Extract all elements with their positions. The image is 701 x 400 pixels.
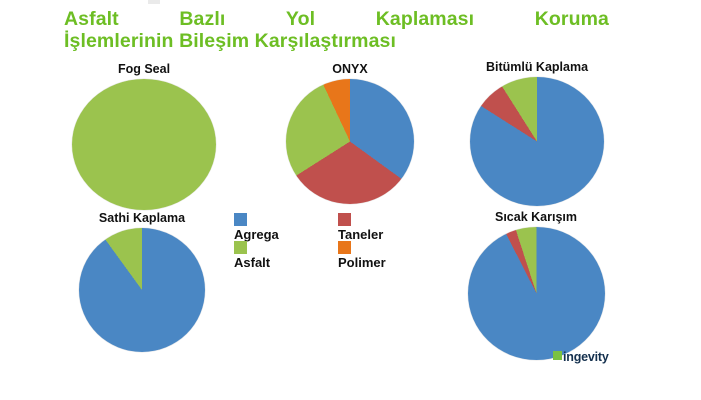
legend-label-polimer: Polimer <box>338 255 420 270</box>
legend-item-polimer[interactable]: Polimer <box>338 241 420 269</box>
page-title-line-2: İşlemlerinin Bileşim Karşılaştırması <box>64 30 624 52</box>
pie-fog-seal[interactable] <box>72 79 216 210</box>
pie-sathi-kaplama[interactable] <box>79 228 205 352</box>
chart-title-bitumlu-kaplama: Bitümlü Kaplama <box>452 60 622 74</box>
page-title-line-1: Asfalt Bazlı Yol Kaplaması Koruma <box>64 8 609 30</box>
chart-onyx: ONYX <box>275 62 425 204</box>
slide-canvas: Asfalt Bazlı Yol Kaplaması Koruma İşleml… <box>0 0 701 400</box>
ingevity-logo-text: ingevity <box>563 350 609 364</box>
chart-sathi-kaplama: Sathi Kaplama <box>62 211 222 352</box>
page-title: Asfalt Bazlı Yol Kaplaması Koruma İşleml… <box>64 8 624 52</box>
pie-bitumlu-kaplama[interactable] <box>470 77 604 206</box>
title-word-2: Bazlı <box>179 8 225 30</box>
legend-swatch-asfalt <box>234 241 247 254</box>
title-word-4: Kaplaması <box>376 8 474 30</box>
legend-item-asfalt[interactable]: Asfalt <box>234 241 338 269</box>
pie-onyx[interactable] <box>286 79 414 204</box>
chart-title-sathi-kaplama: Sathi Kaplama <box>62 211 222 225</box>
chart-title-onyx: ONYX <box>275 62 425 76</box>
legend-item-agrega[interactable]: Agrega <box>234 213 338 241</box>
chart-fog-seal: Fog Seal <box>63 62 225 210</box>
legend-swatch-polimer <box>338 241 351 254</box>
ingevity-logo: ingevity <box>553 350 609 364</box>
title-word-5: Koruma <box>535 8 609 30</box>
chart-title-fog-seal: Fog Seal <box>63 62 225 76</box>
legend-swatch-agrega <box>234 213 247 226</box>
legend-label-taneler: Taneler <box>338 227 420 242</box>
pie-sicak-karisim[interactable] <box>468 227 605 360</box>
ingevity-logo-mark-icon <box>553 351 562 360</box>
legend-label-agrega: Agrega <box>234 227 338 242</box>
legend-swatch-taneler <box>338 213 351 226</box>
chart-legend: Agrega Taneler Asfalt Polimer <box>234 213 420 269</box>
legend-label-asfalt: Asfalt <box>234 255 338 270</box>
chart-title-sicak-karisim: Sıcak Karışım <box>450 210 622 224</box>
title-word-3: Yol <box>286 8 315 30</box>
chart-sicak-karisim: Sıcak Karışım <box>450 210 622 360</box>
top-edge-artifact <box>148 0 160 4</box>
legend-item-taneler[interactable]: Taneler <box>338 213 420 241</box>
chart-bitumlu-kaplama: Bitümlü Kaplama <box>452 60 622 206</box>
title-word-1: Asfalt <box>64 8 119 30</box>
